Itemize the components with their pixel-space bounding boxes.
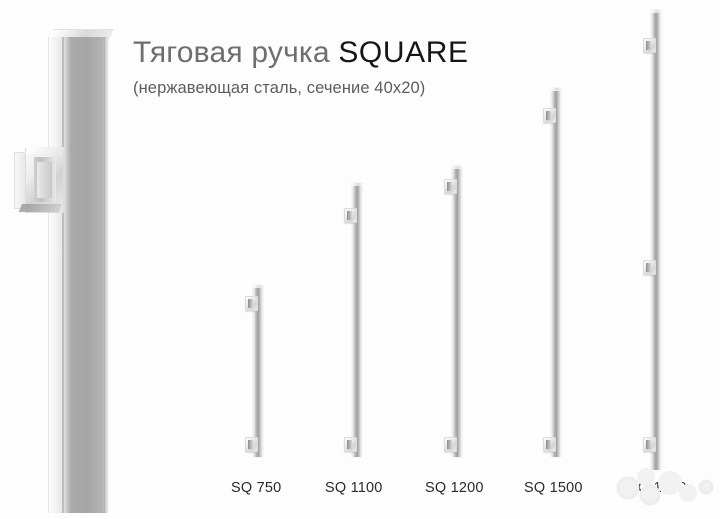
heading-block: Тяговая ручка SQUARE (нержавеющая сталь,… (133, 36, 469, 98)
handle-bar-top-cap (452, 166, 462, 169)
handle-bracket (543, 437, 556, 452)
bracket-bottom-face (19, 204, 62, 212)
handle-bracket (643, 437, 656, 452)
title-prefix: Тяговая ручка (133, 36, 338, 69)
handle-bar (551, 88, 561, 457)
handle-bar (352, 183, 362, 457)
bracket-inner-recess-deep (37, 162, 52, 198)
handle-bracket (344, 437, 357, 452)
handle-size-label: SQ 1770 (628, 480, 687, 496)
handle-size-label: SQ 1500 (524, 480, 583, 496)
title-brand: SQUARE (338, 36, 468, 69)
handle-bracket (543, 108, 556, 123)
handle-bar-top-cap (352, 183, 362, 186)
handle-bar-top-cap (651, 10, 661, 13)
handle-bracket (643, 260, 656, 275)
handle-size-label: SQ 1200 (425, 480, 484, 496)
handle-bracket (643, 38, 656, 53)
handle-bracket (245, 437, 258, 452)
bracket-top-face (25, 147, 65, 154)
page-subtitle: (нержавеющая сталь, сечение 40х20) (133, 78, 469, 98)
handle-bracket (444, 437, 457, 452)
handle-shadow (104, 37, 110, 513)
handle-size-label: SQ 750 (231, 480, 281, 496)
handle-bar-top-cap (253, 285, 263, 288)
handle-bar (452, 166, 462, 457)
handle-bar (651, 10, 661, 470)
handle-highlight (64, 37, 71, 513)
page-title: Тяговая ручка SQUARE (133, 36, 469, 70)
handle-left-edge (48, 37, 63, 513)
handle-bar-top-cap (551, 88, 561, 91)
handle-size-label: SQ 1100 (325, 480, 383, 496)
handle-bracket (344, 208, 357, 223)
product-catalog-image: Тяговая ручка SQUARE (нержавеющая сталь,… (0, 0, 720, 519)
handle-bracket (245, 296, 258, 311)
featured-handle-illustration (0, 0, 132, 519)
handle-mounting-bracket (14, 148, 62, 211)
handle-bracket (444, 179, 457, 194)
